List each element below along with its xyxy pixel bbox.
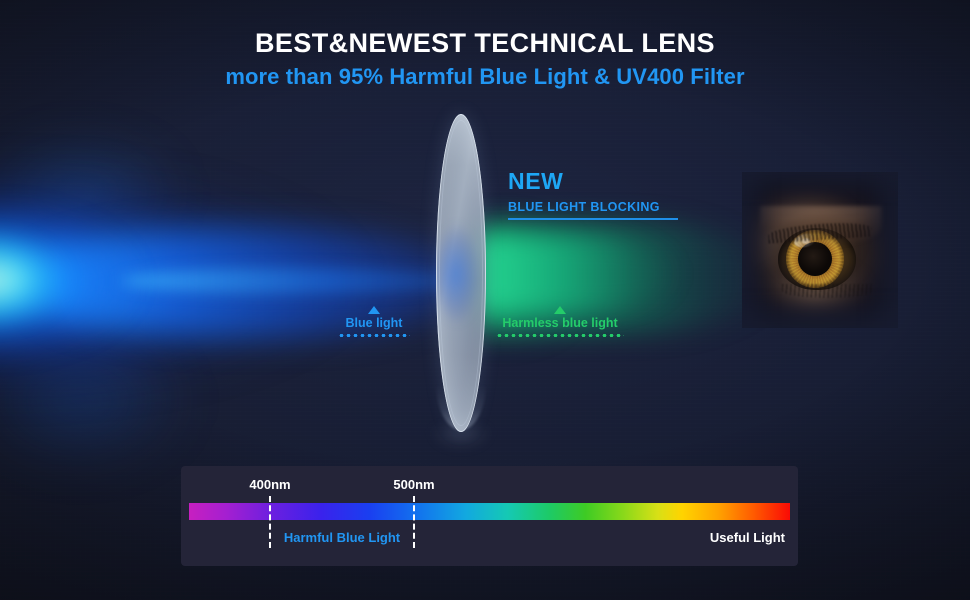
- badge-underline: [508, 218, 678, 220]
- spectrum-tick-label-500: 500nm: [393, 477, 434, 492]
- spectrum-tick-400: [269, 496, 271, 548]
- blue-light-marker: Blue light: [338, 306, 410, 337]
- spectrum-tick-label-400: 400nm: [249, 477, 290, 492]
- harmful-blue-light-label: Harmful Blue Light: [273, 530, 411, 545]
- blue-light-marker-label: Blue light: [338, 317, 410, 330]
- product-infographic: BEST&NEWEST TECHNICAL LENS more than 95%…: [0, 0, 970, 600]
- useful-light-label: Useful Light: [710, 530, 785, 545]
- spectrum-tick-500: [413, 496, 415, 548]
- triangle-up-icon: [554, 306, 566, 314]
- page-subtitle: more than 95% Harmful Blue Light & UV400…: [0, 64, 970, 90]
- harmless-light-marker: Harmless blue light: [496, 306, 624, 337]
- page-title: BEST&NEWEST TECHNICAL LENS: [0, 28, 970, 59]
- spectrum-gradient-bar: [189, 503, 790, 520]
- blue-light-blocking-label: BLUE LIGHT BLOCKING: [508, 201, 708, 214]
- light-spectrum-panel: 400nm 500nm Harmful Blue Light Useful Li…: [181, 466, 798, 566]
- new-feature-badge: NEW BLUE LIGHT BLOCKING: [508, 170, 708, 220]
- triangle-up-icon: [368, 306, 380, 314]
- harmless-light-marker-label: Harmless blue light: [496, 317, 624, 330]
- blue-light-marker-dots: [338, 334, 410, 337]
- harmless-light-marker-dots: [496, 334, 624, 337]
- new-label: NEW: [508, 170, 708, 193]
